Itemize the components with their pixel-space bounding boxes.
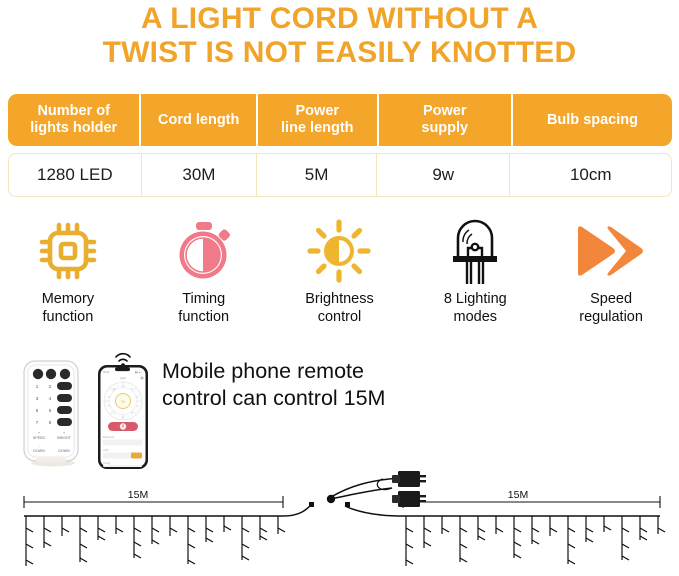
- svg-text:3: 3: [36, 396, 39, 401]
- feature-label-line-1: Timing: [182, 291, 225, 307]
- title-line-2: TWIST IS NOT EASILY KNOTTED: [0, 36, 679, 70]
- column-header-cord-length: Cord length: [141, 94, 256, 146]
- feature-label-line-1: Speed: [590, 291, 632, 307]
- svg-text:DOWN: DOWN: [33, 449, 45, 453]
- memory-chip-icon: [37, 214, 99, 288]
- svg-text:09:41: 09:41: [103, 370, 110, 374]
- feature-label-line-2: modes: [454, 309, 498, 325]
- feature-label-line-2: function: [42, 309, 93, 325]
- feature-label-line-2: control: [318, 309, 362, 325]
- column-header-power-line-length: Power line length: [258, 94, 377, 146]
- value-bulb-spacing: 10cm: [510, 154, 671, 196]
- icicle-strands-right: [406, 516, 665, 566]
- header-line-2: supply: [421, 120, 468, 136]
- svg-text:BRIGHT: BRIGHT: [57, 436, 71, 440]
- svg-text:SPEED: SPEED: [33, 436, 46, 440]
- value-power-line-length: 5M: [257, 154, 377, 196]
- brightness-sun-icon: [307, 214, 371, 288]
- svg-text:DOWN: DOWN: [58, 449, 70, 453]
- dimension-label-left: 15M: [108, 489, 168, 501]
- column-header-lights-holder: Number of lights holder: [8, 94, 139, 146]
- column-header-bulb-spacing: Bulb spacing: [513, 94, 672, 146]
- spec-table-value-row: 1280 LED 30M 5M 9w 10cm: [8, 153, 672, 197]
- svg-text:Color: Color: [103, 449, 109, 452]
- feature-label: Memory function: [42, 290, 94, 326]
- svg-text:4: 4: [49, 396, 52, 401]
- feature-label-line-2: regulation: [579, 309, 643, 325]
- feature-label-line-1: 8 Lighting: [444, 291, 507, 307]
- svg-text:1: 1: [36, 384, 39, 389]
- page-title: A LIGHT CORD WITHOUT A TWIST IS NOT EASI…: [0, 2, 679, 70]
- feature-list: Memory function Timing function: [0, 214, 679, 340]
- svg-text:+: +: [63, 431, 65, 435]
- header-line-1: Power: [296, 103, 340, 119]
- svg-text:7: 7: [36, 420, 39, 425]
- remote-control-device: 12 34 56 78 ++ SPEEDBRIGHT -- DOWNDOWN: [20, 360, 82, 473]
- feature-label: Brightness control: [305, 290, 374, 326]
- svg-text:ON: ON: [121, 399, 125, 403]
- smartphone-device: 09:41 ▮▮ ▰ Light 123 456 789 10 ON: [89, 348, 155, 477]
- feature-label: Timing function: [178, 290, 229, 326]
- spec-table: Number of lights holder Cord length Powe…: [8, 94, 672, 197]
- fast-forward-icon: [572, 214, 650, 288]
- svg-text:Brightness: Brightness: [103, 436, 115, 439]
- value-lights-holder: 1280 LED: [9, 154, 142, 196]
- svg-text:5: 5: [36, 408, 39, 413]
- header-line-2: lights holder: [30, 120, 117, 136]
- svg-text:Light: Light: [120, 376, 126, 380]
- feature-label-line-1: Brightness: [305, 291, 374, 307]
- feature-speed-regulation: Speed regulation: [543, 214, 679, 340]
- power-plug-2: [392, 491, 426, 507]
- feature-label: 8 Lighting modes: [444, 290, 507, 326]
- header-line-1: Number of: [37, 103, 110, 119]
- feature-label: Speed regulation: [579, 290, 643, 326]
- column-header-power-supply: Power supply: [379, 94, 511, 146]
- led-bulb-icon: [447, 214, 503, 288]
- feature-brightness-control: Brightness control: [272, 214, 408, 340]
- header-line-1: Power: [423, 103, 467, 119]
- feature-lighting-modes: 8 Lighting modes: [407, 214, 543, 340]
- dimension-label-right: 15M: [488, 489, 548, 501]
- feature-label-line-2: function: [178, 309, 229, 325]
- svg-text:Timing: Timing: [103, 462, 111, 465]
- svg-text:2: 2: [49, 384, 52, 389]
- string-light-diagram: [0, 470, 679, 571]
- icicle-strands-left: [26, 516, 285, 566]
- svg-text:+: +: [38, 431, 40, 435]
- remote-control-caption: Mobile phone remote control can control …: [162, 358, 492, 412]
- header-line-1: Cord length: [158, 112, 239, 129]
- stopwatch-icon: [175, 214, 233, 288]
- feature-label-line-1: Memory: [42, 291, 94, 307]
- value-power-supply: 9w: [377, 154, 511, 196]
- caption-line-1: Mobile phone remote: [162, 359, 364, 383]
- caption-line-2: control can control 15M: [162, 386, 385, 410]
- power-plug-1: [392, 471, 426, 487]
- svg-text:8: 8: [49, 420, 52, 425]
- feature-timing-function: Timing function: [136, 214, 272, 340]
- value-cord-length: 30M: [142, 154, 258, 196]
- header-line-2: line length: [281, 120, 354, 136]
- spec-table-header-row: Number of lights holder Cord length Powe…: [8, 94, 672, 146]
- header-line-1: Bulb spacing: [547, 112, 638, 129]
- feature-memory-function: Memory function: [0, 214, 136, 340]
- svg-text:6: 6: [49, 408, 52, 413]
- remote-control-section: 12 34 56 78 ++ SPEEDBRIGHT -- DOWNDOWN: [0, 348, 679, 478]
- title-line-1: A LIGHT CORD WITHOUT A: [0, 2, 679, 36]
